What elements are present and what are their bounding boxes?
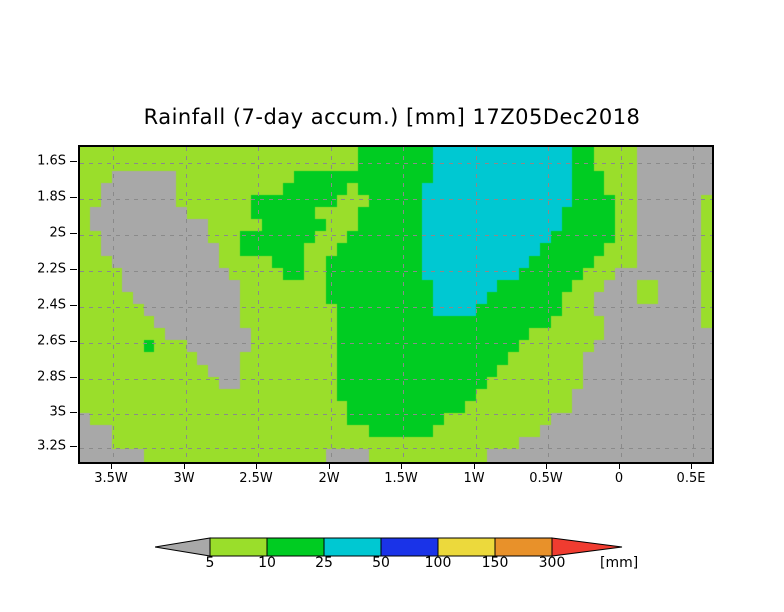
map-plot-area[interactable]	[78, 145, 714, 464]
x-axis-tick	[184, 462, 185, 469]
y-axis-tick	[70, 305, 77, 306]
x-axis-label: 0.5E	[677, 471, 706, 486]
x-axis-label: 2W	[318, 471, 339, 486]
y-axis-label: 2.4S	[37, 298, 66, 313]
colorbar-band-5-10	[210, 538, 267, 556]
colorbar-band-10-25	[267, 538, 324, 556]
colorbar-tick-label: 300	[539, 555, 566, 571]
y-axis-tick	[70, 377, 77, 378]
x-axis-tick	[256, 462, 257, 469]
colorbar-tick-label: 10	[258, 555, 276, 571]
x-axis-label: 0	[615, 471, 623, 486]
x-axis-label: 0.5W	[529, 471, 563, 486]
x-axis-tick	[546, 462, 547, 469]
x-axis-tick	[619, 462, 620, 469]
y-axis-tick	[70, 446, 77, 447]
x-axis-label: 1.5W	[384, 471, 418, 486]
y-axis-label: 3.2S	[37, 439, 66, 454]
x-axis-label: 1W	[463, 471, 484, 486]
colorbar-tick-label: 25	[315, 555, 333, 571]
x-axis-label: 2.5W	[239, 471, 273, 486]
colorbar-band-150-300	[495, 538, 552, 556]
y-axis-label: 3S	[49, 405, 66, 420]
y-axis-tick	[70, 197, 77, 198]
rainfall-field-canvas	[80, 147, 712, 462]
colorbar-band-over-300	[552, 538, 622, 556]
x-axis-tick	[474, 462, 475, 469]
x-axis-tick	[691, 462, 692, 469]
y-axis-tick	[70, 269, 77, 270]
colorbar-band-25-50	[324, 538, 381, 556]
colorbar-band-under-5	[155, 538, 210, 556]
x-axis-label: 3W	[173, 471, 194, 486]
x-axis-tick	[111, 462, 112, 469]
y-axis-label: 2.2S	[37, 262, 66, 277]
y-axis-label: 1.6S	[37, 154, 66, 169]
y-axis-label: 1.8S	[37, 190, 66, 205]
x-axis-label: 3.5W	[94, 471, 128, 486]
colorbar-tick-label: 50	[372, 555, 390, 571]
colorbar-tick-label: 150	[482, 555, 509, 571]
colorbar-band-50-100	[381, 538, 438, 556]
colorbar-band-100-150	[438, 538, 495, 556]
y-axis-tick	[70, 161, 77, 162]
x-axis-tick	[401, 462, 402, 469]
rainfall-heatmap-figure: Rainfall (7-day accum.) [mm] 17Z05Dec201…	[0, 0, 784, 612]
colorbar-tick-label: 100	[425, 555, 452, 571]
y-axis-tick	[70, 412, 77, 413]
y-axis-tick	[70, 341, 77, 342]
y-axis-label: 2.6S	[37, 334, 66, 349]
colorbar-tick-label: 5	[206, 555, 215, 571]
y-axis-label: 2.8S	[37, 370, 66, 385]
x-axis-tick	[329, 462, 330, 469]
y-axis-label: 2S	[49, 226, 66, 241]
colorbar-units-label: [mm]	[600, 555, 638, 571]
page-title: Rainfall (7-day accum.) [mm] 17Z05Dec201…	[0, 105, 784, 129]
y-axis-tick	[70, 233, 77, 234]
